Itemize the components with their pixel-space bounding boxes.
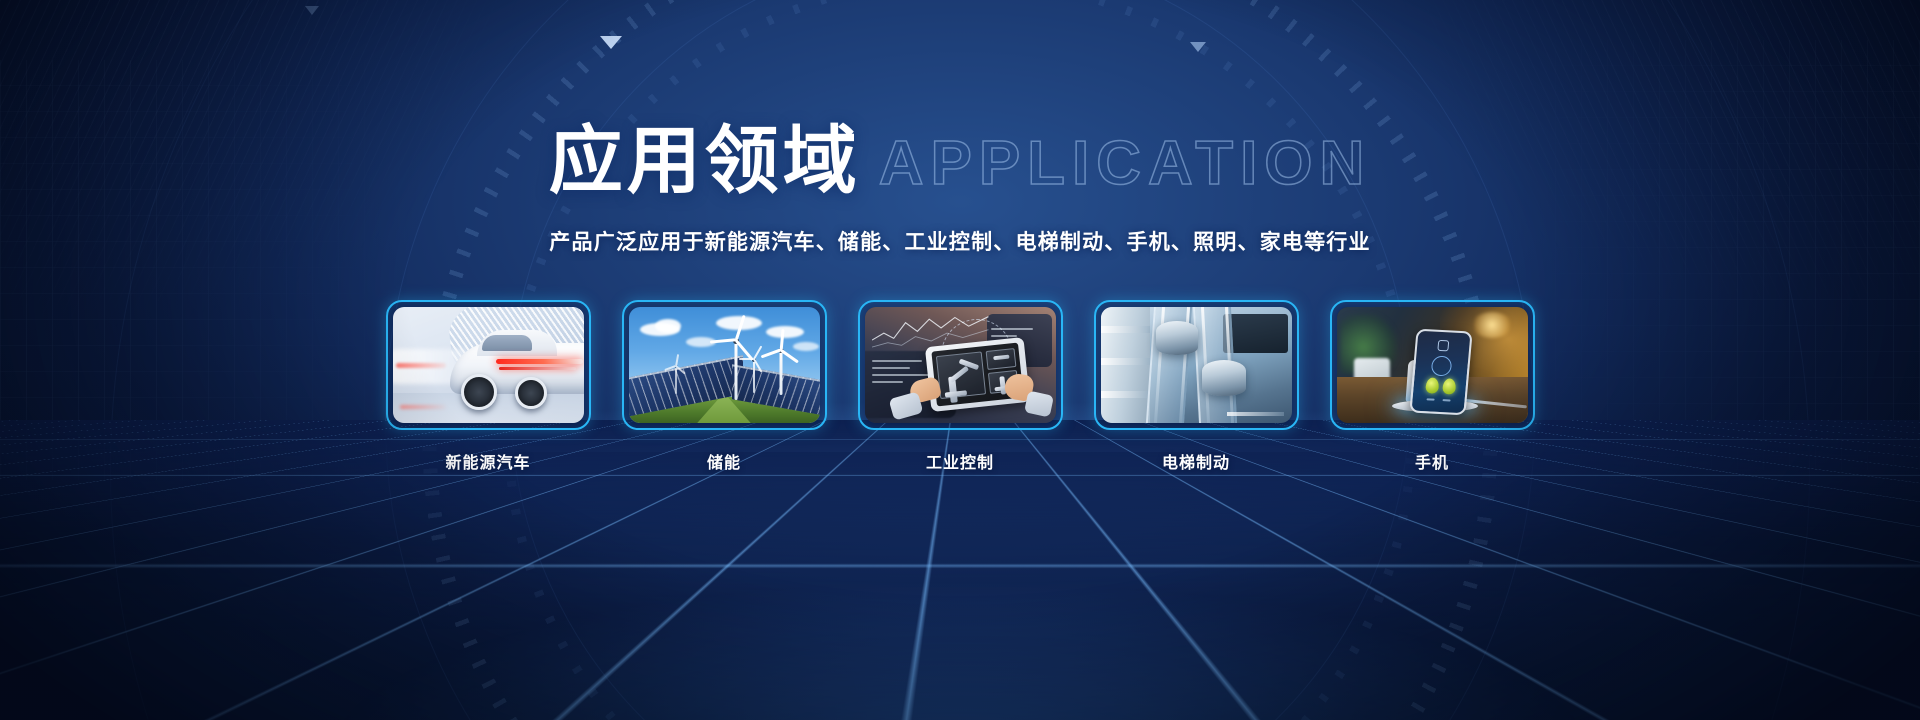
application-banner: 应用领域 APPLICATION 产品广泛应用于新能源汽车、储能、工业控制、电梯… xyxy=(0,0,1920,720)
card-label: 电梯制动 xyxy=(1094,449,1299,473)
page-title: 应用领域 xyxy=(549,124,861,198)
card-image-ev-sports-car-photo xyxy=(393,307,584,423)
application-card-ev[interactable]: 新能源汽车 xyxy=(386,300,591,473)
card-label: 储能 xyxy=(622,449,827,473)
title-row: 应用领域 APPLICATION xyxy=(0,118,1920,204)
heading-block: 应用领域 APPLICATION 产品广泛应用于新能源汽车、储能、工业控制、电梯… xyxy=(0,118,1920,256)
triangle-accent-icon xyxy=(600,36,622,49)
card-frame[interactable] xyxy=(1330,300,1535,430)
wind-turbine-icon xyxy=(667,360,685,394)
phone-device xyxy=(1409,329,1472,416)
page-subtitle: 产品广泛应用于新能源汽车、储能、工业控制、电梯制动、手机、照明、家电等行业 xyxy=(0,226,1920,256)
card-label: 新能源汽车 xyxy=(386,449,591,473)
page-title-english: APPLICATION xyxy=(879,133,1372,195)
elevator-car xyxy=(1202,360,1246,396)
earbud-right-icon xyxy=(1442,379,1456,396)
card-label: 工业控制 xyxy=(858,449,1063,473)
wind-turbine-icon xyxy=(743,351,765,393)
earbud-left-icon xyxy=(1425,378,1439,395)
charging-ring-icon xyxy=(1431,356,1453,377)
card-frame[interactable] xyxy=(622,300,827,430)
wind-turbine-icon xyxy=(766,339,796,395)
application-card-list: 新能源汽车 xyxy=(0,300,1920,473)
application-card-mobile-phone[interactable]: 手机 xyxy=(1330,300,1535,473)
triangle-accent-icon xyxy=(1190,42,1206,52)
application-card-elevator-braking[interactable]: 电梯制动 xyxy=(1094,300,1299,473)
elevator-car xyxy=(1156,321,1198,355)
triangle-accent-icon xyxy=(305,6,319,15)
card-frame[interactable] xyxy=(1094,300,1299,430)
app-icon xyxy=(1437,340,1449,352)
card-image-solar-wind-farm-photo xyxy=(629,307,820,423)
card-image-industrial-tablet-photo xyxy=(865,307,1056,423)
card-frame[interactable] xyxy=(858,300,1063,430)
application-card-energy-storage[interactable]: 储能 xyxy=(622,300,827,473)
card-image-glass-elevator-photo xyxy=(1101,307,1292,423)
card-label: 手机 xyxy=(1330,449,1535,473)
card-frame[interactable] xyxy=(386,300,591,430)
card-image-phone-wireless-charger-photo xyxy=(1337,307,1528,423)
application-card-industrial-control[interactable]: 工业控制 xyxy=(858,300,1063,473)
